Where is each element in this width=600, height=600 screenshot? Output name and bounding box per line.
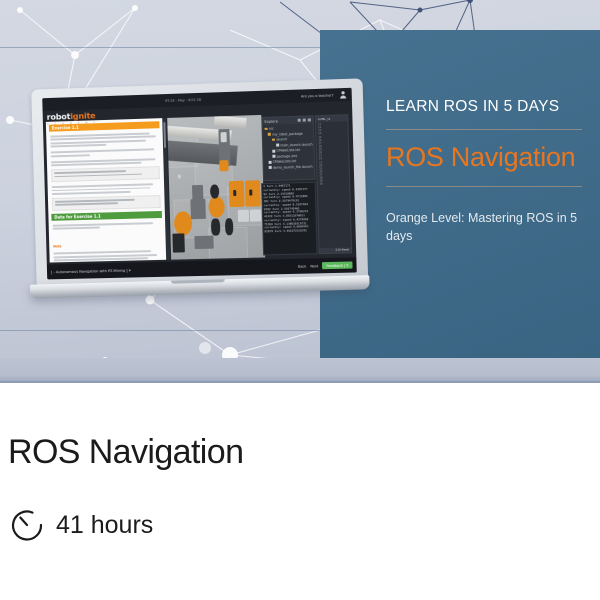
explorer-title: Explore [264, 119, 278, 123]
course-banner-title: ROS Navigation [386, 143, 600, 171]
course-duration: 41 hours [10, 508, 153, 542]
code-block [52, 195, 161, 211]
course-banner-subtitle: Orange Level: Mastering ROS in 5 days [386, 209, 584, 245]
panel-divider-2 [386, 186, 582, 187]
file-icon [269, 166, 272, 169]
file-icon [272, 149, 275, 152]
user-avatar-icon[interactable] [339, 90, 346, 99]
doc-paragraph [53, 222, 162, 230]
folder-icon [268, 133, 271, 135]
data-for-exercise-header: Data for Exercise 1.1 [51, 211, 162, 221]
file-icon [272, 155, 275, 158]
tree-label: main_launch.launch [280, 142, 312, 147]
tree-label: launch [276, 137, 287, 141]
tree-label: src [269, 127, 274, 131]
code-block [51, 166, 160, 182]
course-card-body: ROS Navigation 41 hours [0, 383, 600, 600]
tree-label: my_robot_package [272, 131, 302, 136]
robotignite-logo: robotignite A C A D E M Y [47, 110, 98, 126]
logo-robot-text: robot [47, 111, 71, 122]
terminal-panel[interactable]: 3 turn 1.9487171 currently: speed 0.4387… [261, 182, 318, 256]
list-item[interactable]: demo_launch_file.launch [266, 164, 313, 169]
duration-label: 41 hours [56, 511, 153, 540]
list-item[interactable]: package.xml [265, 153, 312, 158]
ide-topbar-label: RT-54 - May - ROS 3D [165, 97, 201, 102]
note-tag: Note [53, 245, 61, 249]
doc-note: Note [53, 230, 162, 261]
search-icon[interactable] [298, 119, 301, 122]
hero-bottom-band [0, 358, 600, 383]
hero-banner: LEARN ROS IN 5 DAYS ROS Navigation Orang… [0, 0, 600, 383]
gazebo-simulation-view[interactable] [167, 115, 265, 260]
file-icon [276, 144, 279, 147]
doc-paragraph [52, 183, 161, 195]
list-item[interactable]: my_robot_package [265, 131, 312, 136]
side-panel-footer: 4.20 fileest [319, 247, 351, 253]
folder-icon [272, 138, 275, 140]
course-document-pane[interactable]: Exercise 1.1 [46, 118, 166, 262]
refresh-icon[interactable] [308, 118, 311, 121]
logo-ignite-text: ignite [70, 110, 95, 121]
back-button[interactable]: Back [298, 264, 306, 268]
line-number: 30 [320, 182, 347, 186]
editor-side-panel[interactable]: sUML_la 11 12 13 14 15 16 17 18 19 [315, 114, 352, 254]
feedback-button[interactable]: Feedback | 5 [322, 261, 352, 269]
bottom-bar-actions: Back Next Feedback | 5 [298, 261, 353, 269]
side-panel-lines: 11 12 13 14 15 16 17 18 19 20 21 [316, 121, 349, 187]
page-title: ROS Navigation [8, 433, 243, 472]
laptop-lid: RT-54 - May - ROS 3D Are you a teacher? … [31, 78, 368, 291]
list-item[interactable]: CMakeLists.txt [265, 148, 312, 153]
tree-label: package.xml [276, 154, 297, 159]
tree-label: demo_launch_file.launch [273, 164, 313, 169]
next-button[interactable]: Next [310, 264, 318, 268]
teacher-link[interactable]: Are you a teacher? [301, 93, 334, 98]
doc-paragraph [51, 149, 160, 158]
explorer-actions [298, 118, 311, 121]
ide-topbar: RT-54 - May - ROS 3D Are you a teacher? [42, 88, 352, 111]
robotignite-ide: RT-54 - May - ROS 3D Are you a teacher? … [42, 88, 357, 280]
course-card-page: LEARN ROS IN 5 DAYS ROS Navigation Orang… [0, 0, 600, 600]
list-item[interactable]: launch [265, 136, 312, 141]
file-explorer-panel[interactable]: Explore src [261, 115, 315, 181]
tree-label: CMakeLists.txt [276, 148, 300, 153]
clock-icon [10, 508, 44, 542]
file-icon [269, 160, 272, 163]
logo-wordmark: robotignite [47, 110, 98, 122]
list-item[interactable]: main_launch.launch [265, 142, 312, 147]
course-info-content: LEARN ROS IN 5 DAYS ROS Navigation Orang… [386, 98, 600, 246]
laptop-base-notch [171, 279, 225, 284]
list-item[interactable]: src [265, 125, 312, 130]
list-item[interactable]: CMakeLists.txt [265, 159, 312, 164]
doc-paragraph [51, 158, 160, 167]
terminal-line: 82879 turn 3.4522723[639] [264, 229, 315, 234]
tree-label: CMakeLists.txt [273, 159, 297, 164]
file-tree[interactable]: src my_robot_package launch main_launc [262, 123, 314, 169]
laptop-screen: RT-54 - May - ROS 3D Are you a teacher? … [42, 88, 357, 280]
course-eyebrow: LEARN ROS IN 5 DAYS [386, 98, 600, 116]
panel-divider-1 [386, 129, 582, 130]
folder-icon [265, 128, 268, 130]
doc-paragraph [50, 132, 159, 148]
laptop-mockup: RT-54 - May - ROS 3D Are you a teacher? … [28, 84, 368, 314]
unit-title[interactable]: [ - Autonomous Navigation with RT-Mining… [51, 268, 131, 274]
new-file-icon[interactable] [303, 119, 306, 122]
